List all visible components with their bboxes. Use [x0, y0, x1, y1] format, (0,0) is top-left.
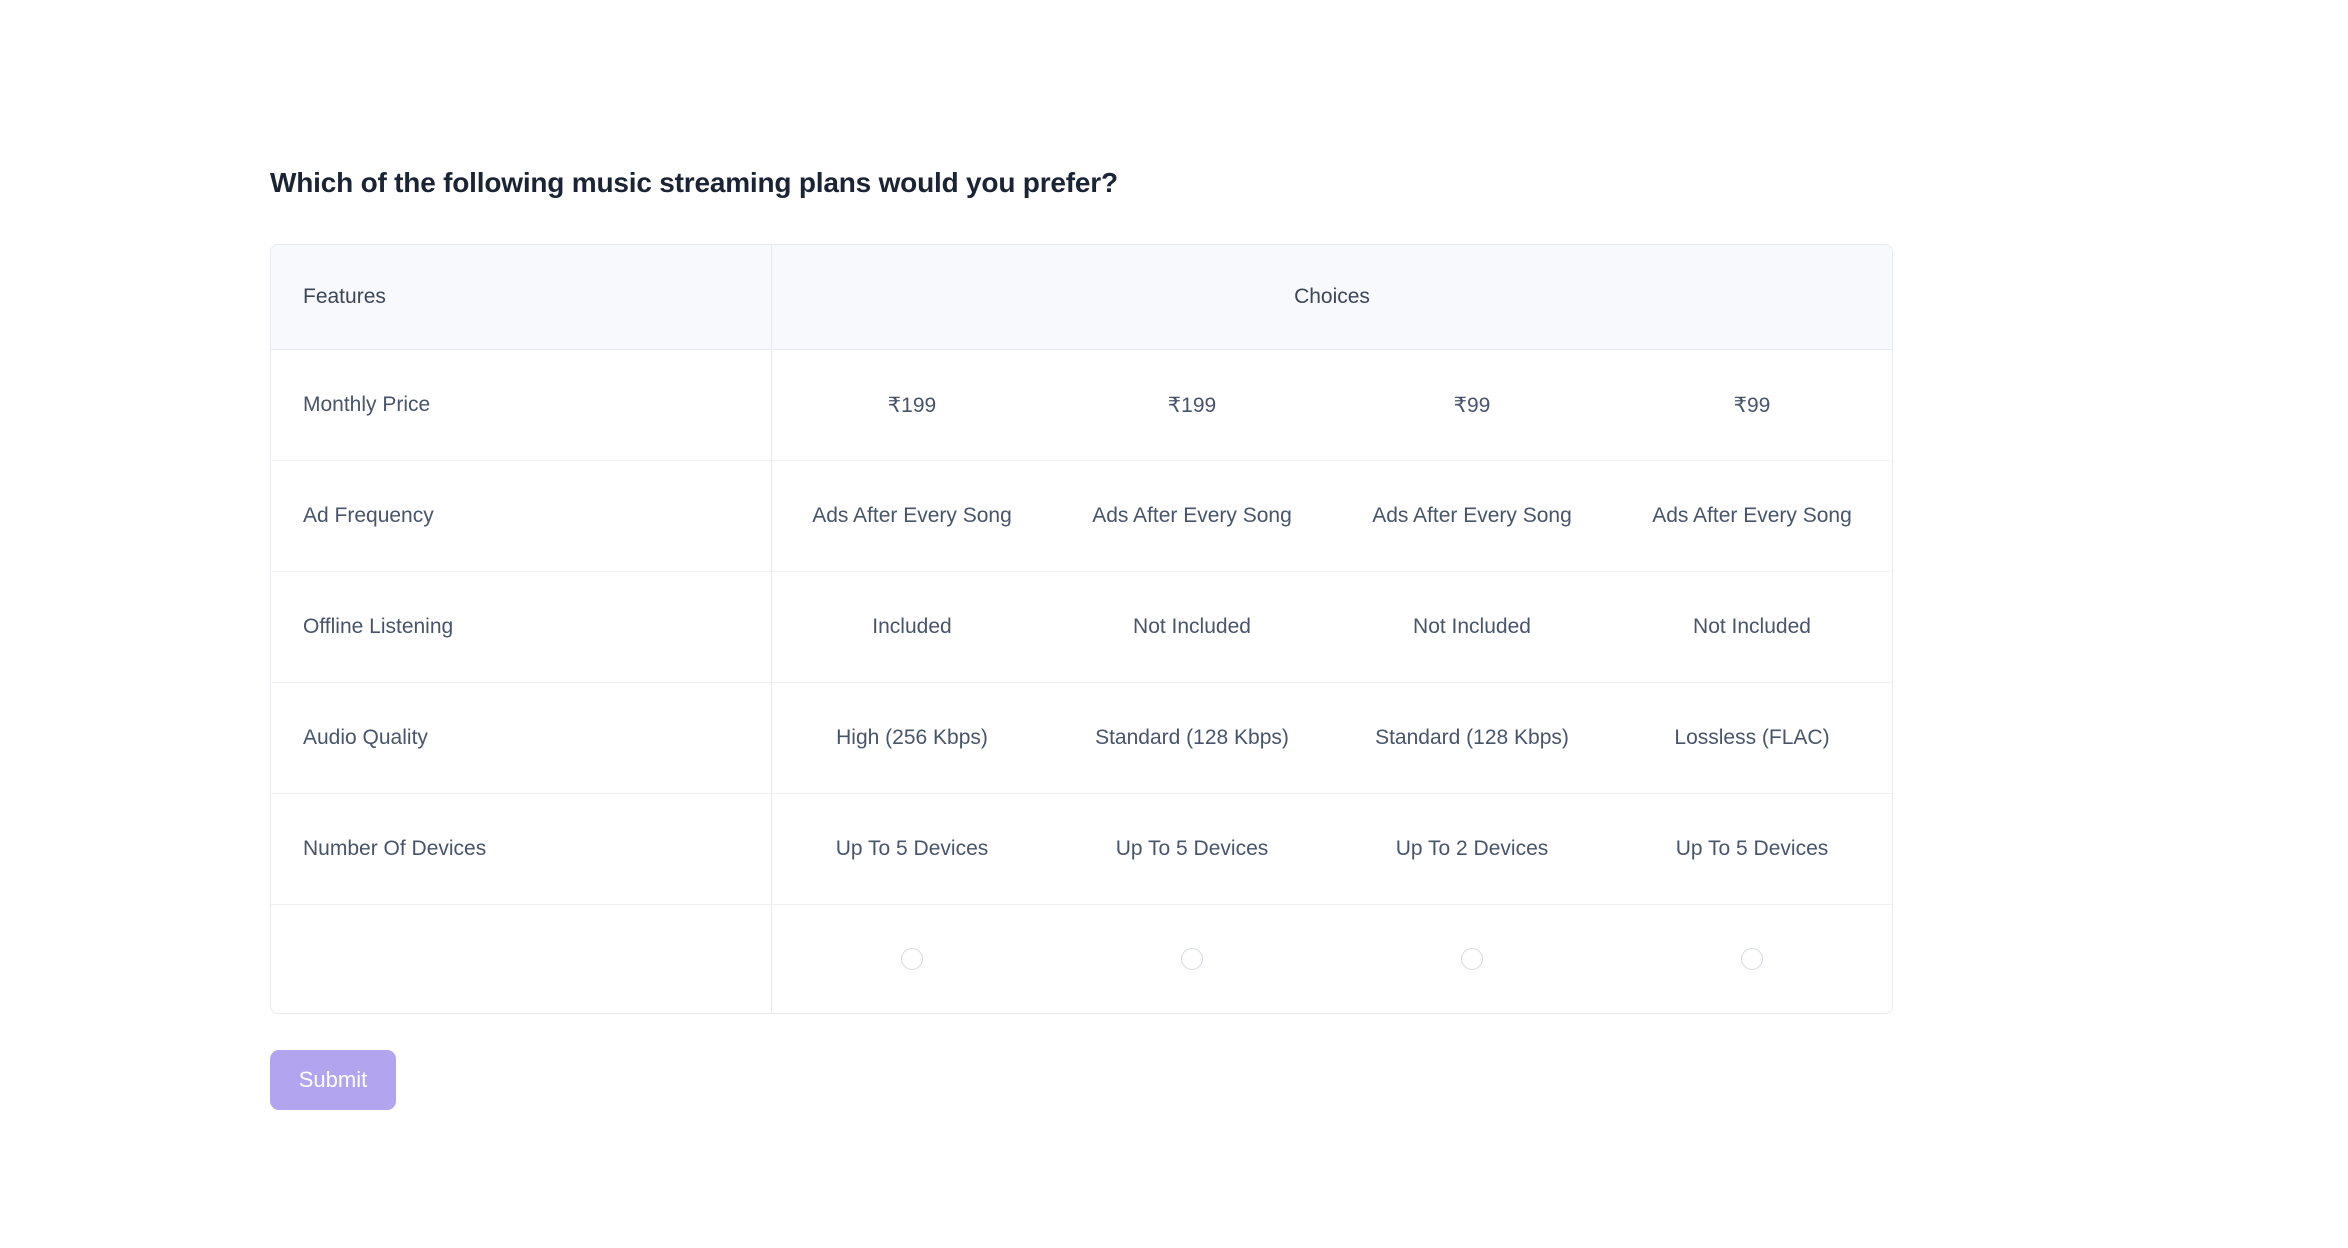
cell-number-of-devices-1: Up To 5 Devices — [772, 794, 1052, 905]
comparison-table: Features Choices Monthly Price ₹199 ₹199… — [270, 244, 1893, 1014]
cell-ad-frequency-1: Ads After Every Song — [772, 461, 1052, 572]
table-head: Features Choices — [271, 245, 1892, 350]
cell-ad-frequency-2: Ads After Every Song — [1052, 461, 1332, 572]
cell-monthly-price-2: ₹199 — [1052, 350, 1332, 461]
table-row: Ad Frequency Ads After Every Song Ads Af… — [271, 461, 1892, 572]
page-title: Which of the following music streaming p… — [270, 167, 1118, 199]
cell-audio-quality-4: Lossless (FLAC) — [1612, 683, 1892, 794]
cell-offline-listening-2: Not Included — [1052, 572, 1332, 683]
selection-row-spacer — [271, 905, 772, 1013]
cell-audio-quality-3: Standard (128 Kbps) — [1332, 683, 1612, 794]
table-header-row: Features Choices — [271, 245, 1892, 350]
radio-button-choice-1[interactable] — [901, 948, 923, 970]
choices-column-header: Choices — [772, 245, 1892, 350]
table-row: Offline Listening Included Not Included … — [271, 572, 1892, 683]
feature-label-ad-frequency: Ad Frequency — [271, 461, 772, 572]
table-row: Number Of Devices Up To 5 Devices Up To … — [271, 794, 1892, 905]
table-row-selection — [271, 905, 1892, 1013]
feature-label-number-of-devices: Number Of Devices — [271, 794, 772, 905]
cell-offline-listening-3: Not Included — [1332, 572, 1612, 683]
radio-button-choice-2[interactable] — [1181, 948, 1203, 970]
cell-ad-frequency-4: Ads After Every Song — [1612, 461, 1892, 572]
radio-button-choice-4[interactable] — [1741, 948, 1763, 970]
choice-matrix: Features Choices Monthly Price ₹199 ₹199… — [270, 244, 1892, 1014]
cell-number-of-devices-2: Up To 5 Devices — [1052, 794, 1332, 905]
radio-cell-2[interactable] — [1052, 905, 1332, 1013]
cell-offline-listening-1: Included — [772, 572, 1052, 683]
cell-audio-quality-2: Standard (128 Kbps) — [1052, 683, 1332, 794]
radio-cell-1[interactable] — [772, 905, 1052, 1013]
submit-button[interactable]: Submit — [270, 1050, 396, 1110]
table-body: Monthly Price ₹199 ₹199 ₹99 ₹99 Ad Frequ… — [271, 350, 1892, 1013]
cell-number-of-devices-3: Up To 2 Devices — [1332, 794, 1612, 905]
radio-button-choice-3[interactable] — [1461, 948, 1483, 970]
table-row: Audio Quality High (256 Kbps) Standard (… — [271, 683, 1892, 794]
cell-ad-frequency-3: Ads After Every Song — [1332, 461, 1612, 572]
feature-label-offline-listening: Offline Listening — [271, 572, 772, 683]
cell-monthly-price-1: ₹199 — [772, 350, 1052, 461]
features-column-header: Features — [271, 245, 772, 350]
feature-label-monthly-price: Monthly Price — [271, 350, 772, 461]
feature-label-audio-quality: Audio Quality — [271, 683, 772, 794]
cell-audio-quality-1: High (256 Kbps) — [772, 683, 1052, 794]
cell-offline-listening-4: Not Included — [1612, 572, 1892, 683]
cell-monthly-price-3: ₹99 — [1332, 350, 1612, 461]
radio-cell-3[interactable] — [1332, 905, 1612, 1013]
table-row: Monthly Price ₹199 ₹199 ₹99 ₹99 — [271, 350, 1892, 461]
survey-page: Which of the following music streaming p… — [0, 0, 2348, 1248]
cell-number-of-devices-4: Up To 5 Devices — [1612, 794, 1892, 905]
radio-cell-4[interactable] — [1612, 905, 1892, 1013]
cell-monthly-price-4: ₹99 — [1612, 350, 1892, 461]
